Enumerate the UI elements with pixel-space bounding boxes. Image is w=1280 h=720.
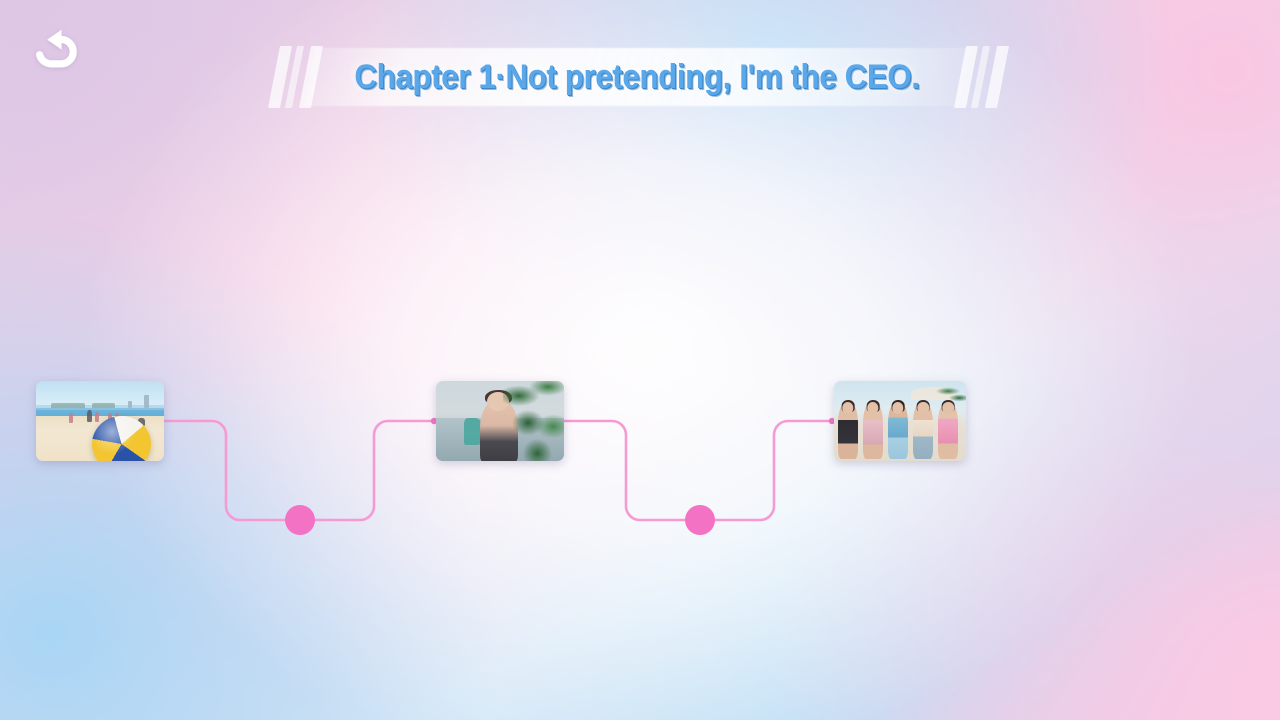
timeline-thumbnail-2[interactable]: Woman in beachwear standing beside palm …	[436, 381, 564, 461]
timeline-connectors	[0, 0, 1280, 720]
thumbnail-3-artwork	[834, 381, 966, 461]
thumbnail-2-artwork	[436, 381, 564, 461]
chapter-story-map-screen: Chapter 1·Not pretending, I'm the CEO.	[0, 0, 1280, 720]
timeline-branch-node-2[interactable]	[685, 505, 715, 535]
timeline-branch-node-1[interactable]	[285, 505, 315, 535]
timeline-thumbnail-3[interactable]: Group of five people standing on a beach…	[834, 381, 966, 461]
story-timeline: Empty sandy beach with a yellow and blue…	[0, 0, 1280, 720]
thumbnail-1-artwork	[36, 381, 164, 461]
timeline-thumbnail-1[interactable]: Empty sandy beach with a yellow and blue…	[36, 381, 164, 461]
